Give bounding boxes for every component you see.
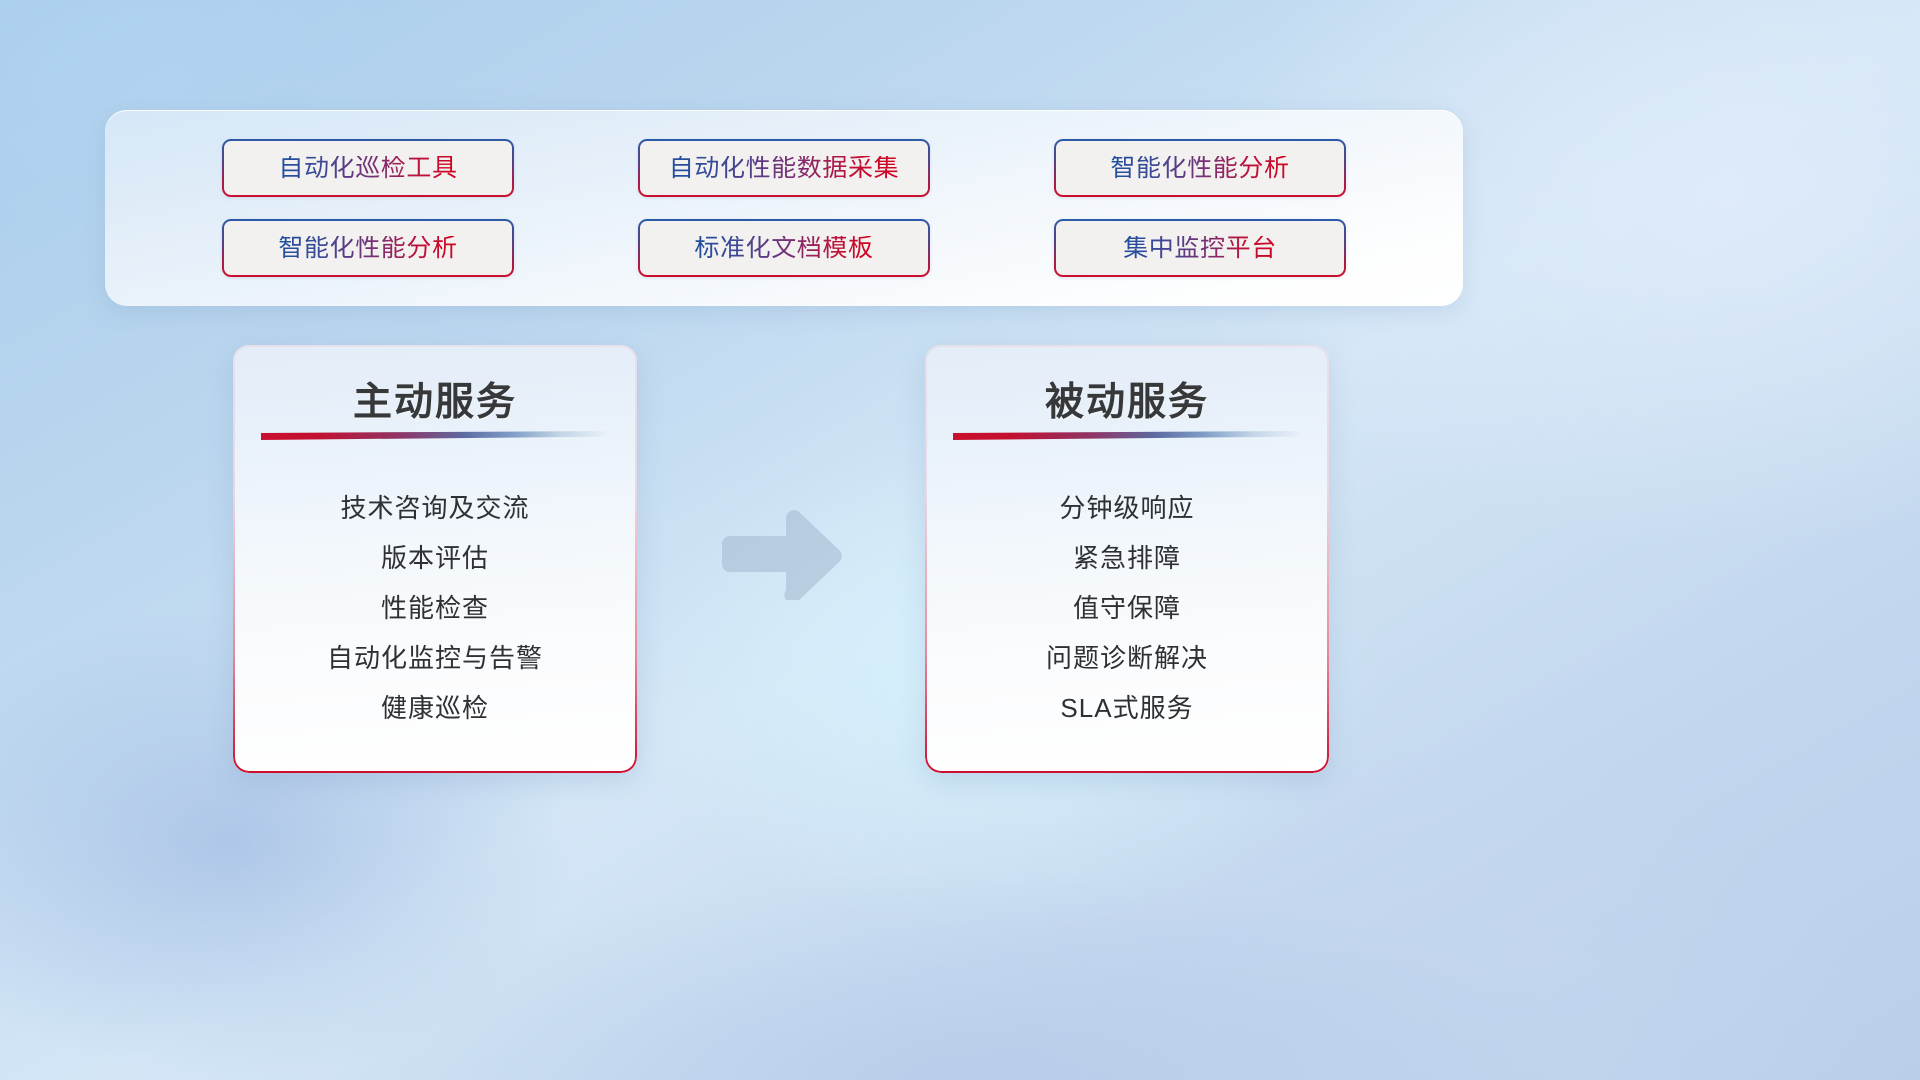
capability-pill-surface: 智能化性能分析	[224, 221, 512, 275]
capability-pill[interactable]: 自动化巡检工具	[222, 139, 514, 197]
active-service-card[interactable]: 主动服务 技术咨询及交流 版本评估 性能检查 自动化监控与告警 健康巡检	[233, 345, 637, 773]
list-item: SLA式服务	[1060, 695, 1193, 721]
active-service-list: 技术咨询及交流 版本评估 性能检查 自动化监控与告警 健康巡检	[233, 467, 637, 755]
card-divider	[953, 431, 1301, 440]
capability-pill[interactable]: 自动化性能数据采集	[638, 139, 930, 197]
capability-pill-grid: 自动化巡检工具 自动化性能数据采集 智能化性能分析 智能化性能分析 标准化文档模…	[105, 110, 1463, 306]
list-item: 技术咨询及交流	[340, 495, 529, 521]
list-item: 自动化监控与告警	[327, 645, 543, 671]
card-divider	[261, 431, 609, 440]
list-item: 紧急排障	[1073, 545, 1181, 571]
flow-arrow-right-icon	[722, 508, 846, 600]
list-item: 健康巡检	[381, 695, 489, 721]
capability-pill-label: 智能化性能分析	[1110, 156, 1289, 181]
capability-pill-surface: 集中监控平台	[1056, 221, 1344, 275]
capability-pill-label: 集中监控平台	[1123, 236, 1277, 261]
capability-pill-label: 自动化巡检工具	[278, 156, 457, 181]
capability-pill[interactable]: 集中监控平台	[1054, 219, 1346, 277]
capabilities-panel: 自动化巡检工具 自动化性能数据采集 智能化性能分析 智能化性能分析 标准化文档模…	[105, 110, 1463, 306]
capability-pill[interactable]: 标准化文档模板	[638, 219, 930, 277]
passive-service-list: 分钟级响应 紧急排障 值守保障 问题诊断解决 SLA式服务	[925, 467, 1329, 755]
capability-pill-label: 智能化性能分析	[278, 236, 457, 261]
list-item: 分钟级响应	[1059, 495, 1194, 521]
capability-pill[interactable]: 智能化性能分析	[1054, 139, 1346, 197]
capability-pill-label: 自动化性能数据采集	[669, 156, 899, 181]
list-item: 版本评估	[381, 545, 489, 571]
capability-pill-surface: 标准化文档模板	[640, 221, 928, 275]
capability-pill-surface: 自动化性能数据采集	[640, 141, 928, 195]
active-service-title: 主动服务	[233, 371, 637, 427]
list-item: 值守保障	[1073, 595, 1181, 621]
capability-pill-surface: 智能化性能分析	[1056, 141, 1344, 195]
capability-pill-label: 标准化文档模板	[694, 236, 873, 261]
passive-service-card[interactable]: 被动服务 分钟级响应 紧急排障 值守保障 问题诊断解决 SLA式服务	[925, 345, 1329, 773]
list-item: 问题诊断解决	[1046, 645, 1208, 671]
capability-pill[interactable]: 智能化性能分析	[222, 219, 514, 277]
list-item: 性能检查	[381, 595, 489, 621]
passive-service-title: 被动服务	[925, 371, 1329, 427]
capability-pill-surface: 自动化巡检工具	[224, 141, 512, 195]
